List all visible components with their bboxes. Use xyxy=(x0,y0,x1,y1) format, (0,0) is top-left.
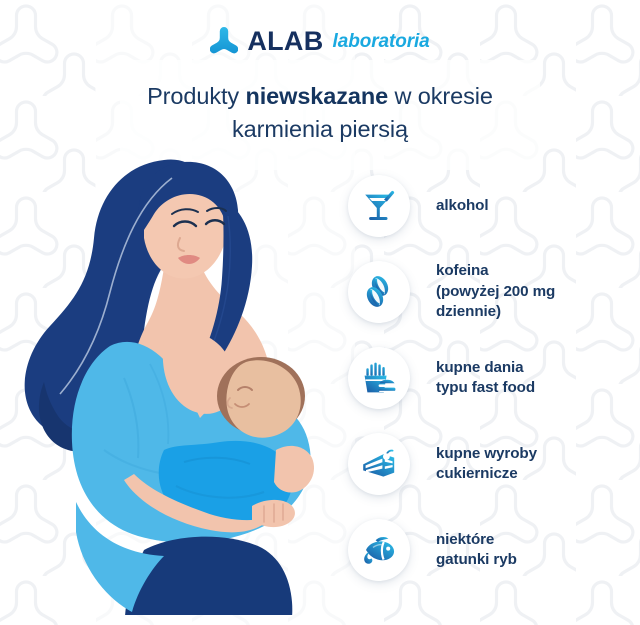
infographic-root: ALAB laboratoria Produkty niewskazane w … xyxy=(0,0,640,625)
list-item[interactable]: kofeina (powyżej 200 mg dziennie) xyxy=(348,249,633,335)
fish-icon xyxy=(348,519,410,581)
list-item-label: kupne dania typu fast food xyxy=(436,358,535,399)
title-part-2: w okresie xyxy=(388,83,493,109)
title-part-1: Produkty xyxy=(147,83,245,109)
cake-slice-icon xyxy=(348,433,410,495)
list-item[interactable]: alkohol xyxy=(348,163,633,249)
coffee-beans-icon xyxy=(348,261,410,323)
fast-food-icon xyxy=(348,347,410,409)
list-item-label: kupne wyroby cukiernicze xyxy=(436,444,537,485)
list-item[interactable]: niektóre gatunki ryb xyxy=(348,507,633,593)
brand-name: ALAB xyxy=(247,28,323,55)
page-title: Produkty niewskazane w okresie karmienia… xyxy=(60,80,580,147)
list-item-label: kofeina (powyżej 200 mg dziennie) xyxy=(436,261,555,322)
mother-breastfeeding-baby-illustration xyxy=(14,150,344,615)
title-emphasis: niewskazane xyxy=(245,83,388,109)
list-item[interactable]: kupne dania typu fast food xyxy=(348,335,633,421)
alab-trilobe-logo-icon xyxy=(210,26,238,56)
brand-tagline: laboratoria xyxy=(333,32,430,51)
cocktail-glass-icon xyxy=(348,175,410,237)
brand-logo: ALAB laboratoria xyxy=(0,26,640,56)
list-item-label: alkohol xyxy=(436,196,488,216)
list-item[interactable]: kupne wyroby cukiernicze xyxy=(348,421,633,507)
list-item-label: niektóre gatunki ryb xyxy=(436,530,517,571)
items-list: alkohol xyxy=(348,163,633,593)
title-line-2: karmienia piersią xyxy=(232,116,408,142)
